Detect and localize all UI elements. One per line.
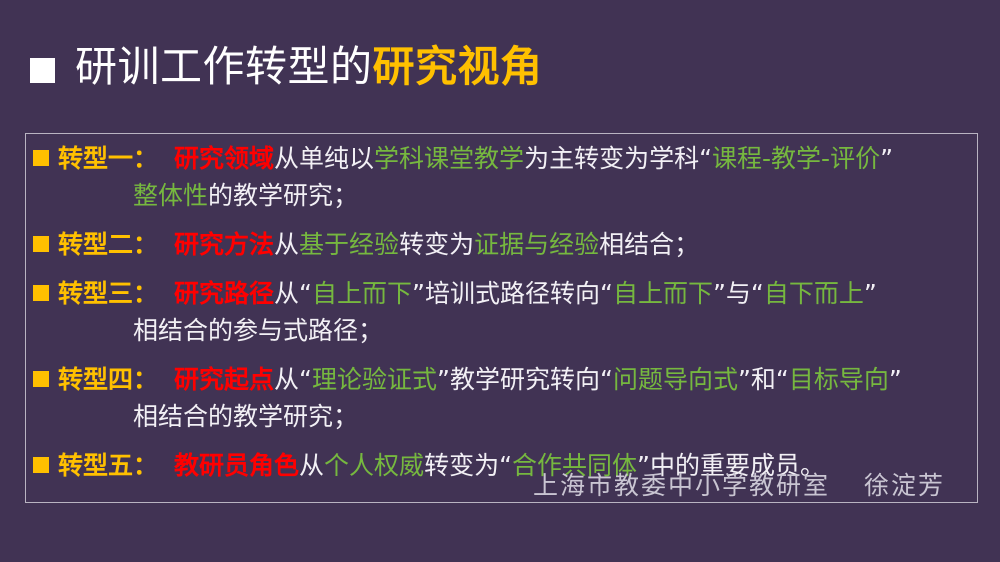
title-part-highlight: 研究视角 — [373, 42, 543, 91]
text-run: 从 — [274, 230, 299, 259]
text-run: ” — [437, 365, 450, 394]
square-bullet-icon — [33, 285, 49, 301]
text-run: 的教学研究； — [208, 181, 358, 210]
list-item: 转型一：研究领域从单纯以学科课堂教学为主转变为学科“课程-教学-评价”整体性的教… — [33, 140, 1000, 214]
list-item-line-primary: 转型三：研究路径从“自上而下”培训式路径转向“自上而下”与“自下而上” — [33, 275, 1000, 312]
text-run: “ — [600, 279, 613, 308]
text-run: ” — [864, 279, 877, 308]
list-item-line-continued: 相结合的教学研究； — [33, 398, 1000, 435]
text-run: ” — [880, 144, 893, 173]
list-item: 转型二：研究方法从基于经验转变为证据与经验相结合； — [33, 226, 1000, 263]
transformation-list: 转型一：研究领域从单纯以学科课堂教学为主转变为学科“课程-教学-评价”整体性的教… — [25, 133, 1000, 503]
text-run: 证据与经验 — [474, 230, 599, 259]
list-item-label: 转型一： — [58, 144, 158, 173]
list-item-line-continued: 整体性的教学研究； — [33, 177, 1000, 214]
text-run: ” — [412, 279, 425, 308]
text-run: 研究起点 — [174, 365, 274, 394]
text-run: 自上而下 — [312, 279, 412, 308]
text-run: 课程-教学-评价 — [712, 144, 880, 173]
text-run: 从 — [274, 365, 299, 394]
list-item-line-primary: 转型四：研究起点从“理论验证式”教学研究转向“问题导向式”和“目标导向” — [33, 361, 1000, 398]
attribution: 上海市教委中小学教研室徐淀芳 — [0, 466, 945, 502]
text-run: 研究路径 — [174, 279, 274, 308]
list-item: 转型四：研究起点从“理论验证式”教学研究转向“问题导向式”和“目标导向”相结合的… — [33, 361, 1000, 435]
text-run: 从 — [274, 279, 299, 308]
text-run: 相结合的教学研究； — [133, 402, 358, 431]
text-run: “ — [751, 279, 764, 308]
attribution-author: 徐淀芳 — [864, 471, 945, 500]
text-run: 研究领域 — [174, 144, 274, 173]
text-run: 学科课堂教学 — [374, 144, 524, 173]
page-title: 研训工作转型的研究视角 — [30, 46, 543, 88]
list-item-line-continued: 相结合的参与式路径； — [33, 312, 1000, 349]
text-run: 相结合； — [599, 230, 699, 259]
text-run: 与 — [726, 279, 751, 308]
list-item: 转型三：研究路径从“自上而下”培训式路径转向“自上而下”与“自下而上”相结合的参… — [33, 275, 1000, 349]
text-run: 和 — [751, 365, 776, 394]
title-part-plain: 研训工作转型的 — [75, 42, 373, 91]
text-run: 相结合的参与式路径； — [133, 316, 383, 345]
text-run: 理论验证式 — [312, 365, 437, 394]
text-run: “ — [600, 365, 613, 394]
text-run: 为主转变为学科 — [524, 144, 699, 173]
text-run: 自下而上 — [764, 279, 864, 308]
text-run: 问题导向式 — [613, 365, 738, 394]
list-item-label: 转型三： — [58, 279, 158, 308]
text-run: ” — [889, 365, 902, 394]
text-run: 研究方法 — [174, 230, 274, 259]
text-run: 培训式路径转向 — [425, 279, 600, 308]
text-run: 自上而下 — [613, 279, 713, 308]
slide-canvas: 研训工作转型的研究视角 转型一：研究领域从单纯以学科课堂教学为主转变为学科“课程… — [0, 0, 1000, 562]
text-run: “ — [776, 365, 789, 394]
text-run: 转变为 — [399, 230, 474, 259]
text-run: 目标导向 — [789, 365, 889, 394]
text-run: “ — [299, 365, 312, 394]
list-item-label: 转型二： — [58, 230, 158, 259]
square-bullet-icon — [30, 58, 55, 83]
list-item-label: 转型四： — [58, 365, 158, 394]
attribution-organization: 上海市教委中小学教研室 — [533, 471, 830, 500]
text-run: 从单纯以 — [274, 144, 374, 173]
text-run: ” — [738, 365, 751, 394]
square-bullet-icon — [33, 236, 49, 252]
list-item-line-primary: 转型二：研究方法从基于经验转变为证据与经验相结合； — [33, 226, 1000, 263]
text-run: 教学研究转向 — [450, 365, 600, 394]
text-run: ” — [713, 279, 726, 308]
text-run: 基于经验 — [299, 230, 399, 259]
text-run: “ — [299, 279, 312, 308]
list-item-line-primary: 转型一：研究领域从单纯以学科课堂教学为主转变为学科“课程-教学-评价” — [33, 140, 1000, 177]
square-bullet-icon — [33, 150, 49, 166]
square-bullet-icon — [33, 371, 49, 387]
text-run: “ — [699, 144, 712, 173]
title-text: 研训工作转型的研究视角 — [75, 46, 543, 88]
text-run: 整体性 — [133, 181, 208, 210]
